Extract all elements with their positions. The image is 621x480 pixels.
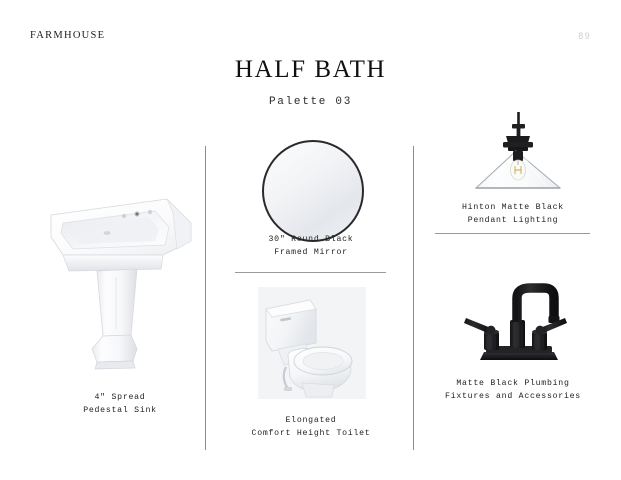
faucet-caption: Matte Black Plumbing Fixtures and Access… <box>432 378 594 403</box>
round-mirror-caption: 30" Round Black Framed Mirror <box>235 234 387 259</box>
pendant-light-icon <box>472 112 568 196</box>
pedestal-sink-image <box>45 193 195 373</box>
pendant-light-caption: Hinton Matte Black Pendant Lighting <box>437 202 589 227</box>
faucet-icon <box>462 278 574 366</box>
faucet-image <box>462 278 574 366</box>
pedestal-sink-caption: 4" Spread Pedestal Sink <box>25 392 215 417</box>
toilet-caption: Elongated Comfort Height Toilet <box>225 415 397 440</box>
page-subtitle: Palette 03 <box>0 96 621 108</box>
pedestal-sink-icon <box>45 193 195 373</box>
toilet-icon <box>258 287 366 399</box>
round-mirror-icon <box>262 140 364 242</box>
column-divider-right <box>413 146 414 450</box>
page-number: 89 <box>578 31 591 41</box>
row-divider-right <box>435 233 590 234</box>
toilet-image <box>258 287 366 399</box>
row-divider-middle <box>235 272 386 273</box>
brand-label: FARMHOUSE <box>30 30 105 41</box>
slide-canvas: FARMHOUSE 89 HALF BATH Palette 03 <box>0 0 621 480</box>
round-mirror-image <box>262 140 364 242</box>
page-title: HALF BATH <box>0 56 621 84</box>
pendant-light-image <box>472 112 568 196</box>
